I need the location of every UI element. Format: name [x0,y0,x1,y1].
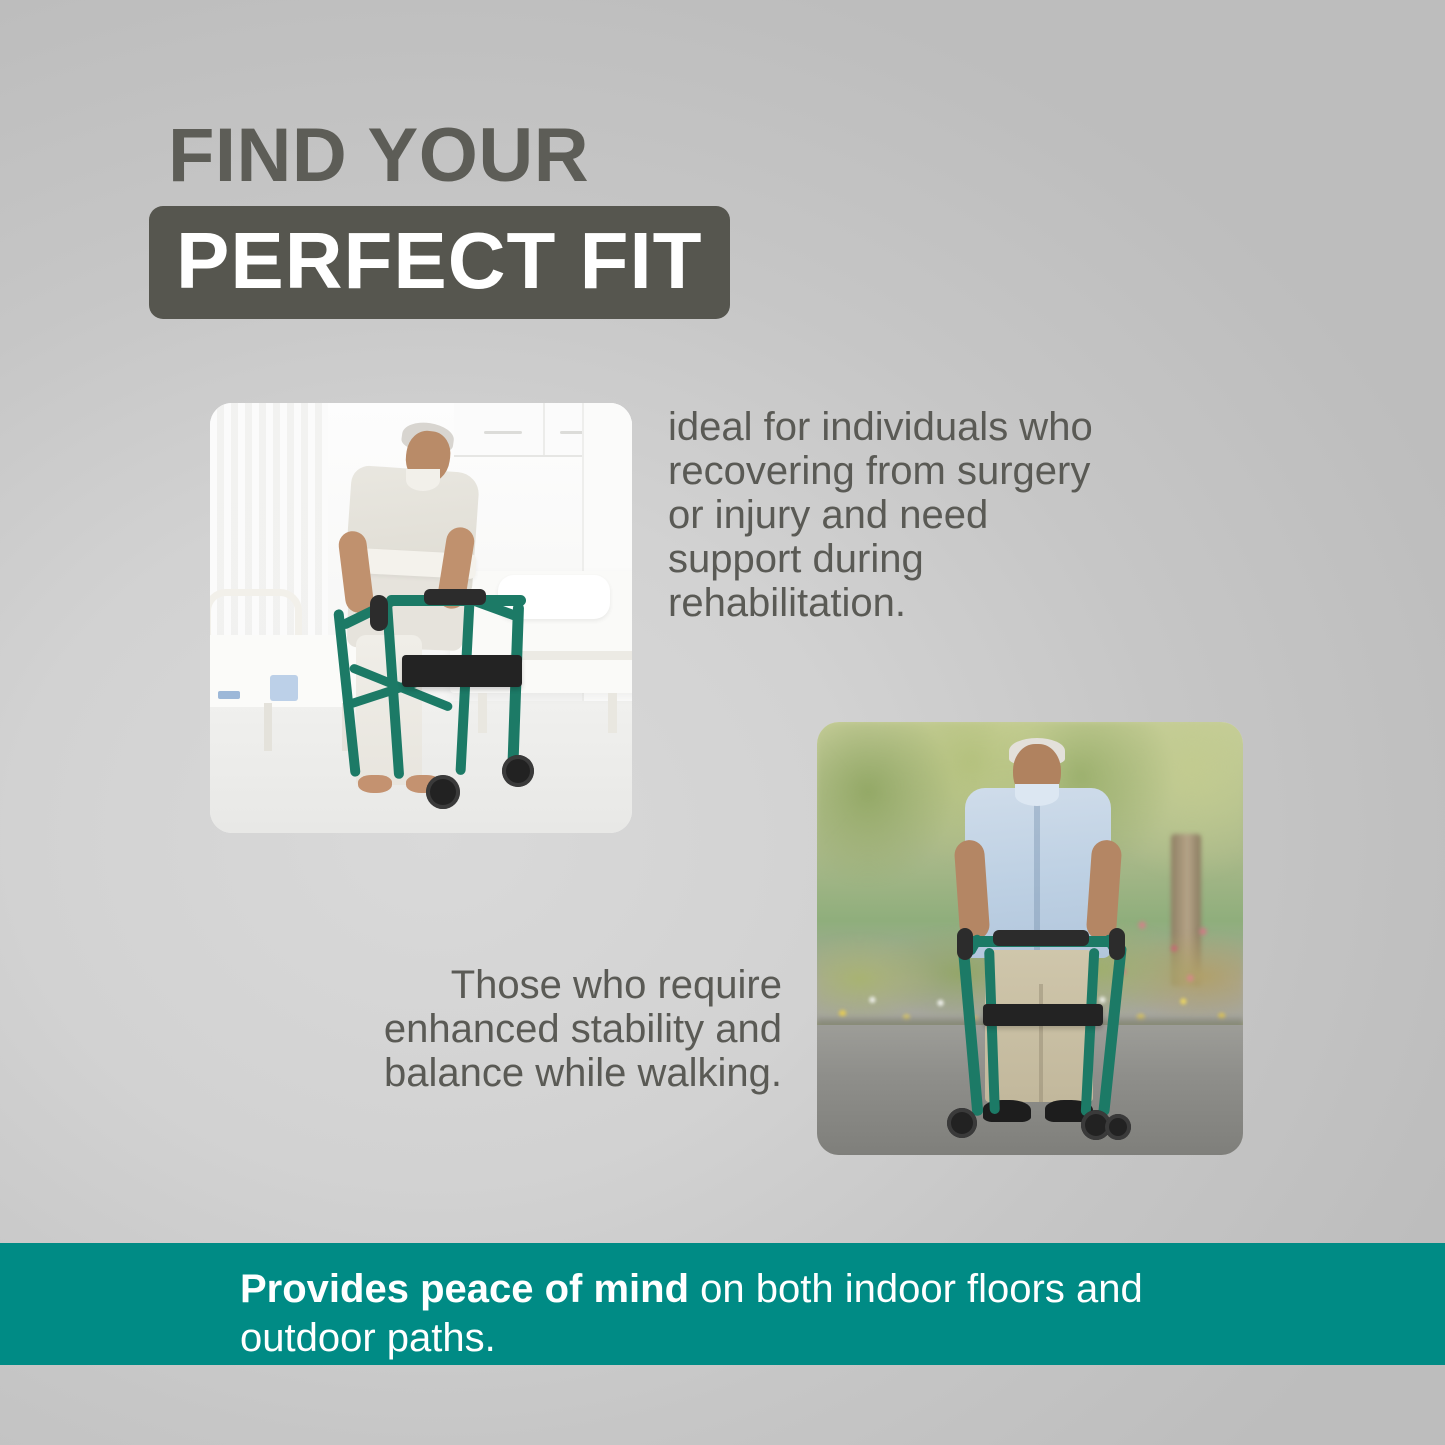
outdoor-walker-seat [983,1004,1103,1026]
outdoor-walker-wheel-right-rear [1105,1114,1131,1140]
outdoor-walker-grip-left [957,928,973,960]
walker-user-shirt-placket [1034,794,1040,952]
feature-text-stability: Those who require enhanced stability and… [300,963,782,1095]
patient-foot [358,775,392,793]
feature-text-recovery: ideal for individuals who recovering fro… [668,405,1108,625]
outdoor-walker-handgrip-bar [993,930,1089,946]
bed-leg [608,693,617,733]
walker-seat-platform [402,655,522,687]
walker-wheel-front [426,775,460,809]
headline-line-one: FIND YOUR [168,118,868,194]
poster-root: FIND YOUR PERFECT FIT [0,0,1445,1445]
patient-collar [406,469,440,491]
headline-badge: PERFECT FIT [149,206,730,319]
photo-card-outdoor [817,722,1243,1155]
footer-text: Provides peace of mind on both indoor fl… [240,1265,1280,1363]
indoor-hospital-scene [210,403,632,833]
bed-leg [478,693,487,733]
outdoor-walker-grip-right [1109,928,1125,960]
outdoor-walker-wheel-left [947,1108,977,1138]
outdoor-park-scene [817,722,1243,1155]
headline-block: FIND YOUR PERFECT FIT [168,118,868,319]
footer-banner: Provides peace of mind on both indoor fl… [0,1243,1445,1365]
bed-rail [510,651,632,660]
footer-lead-text: Provides peace of mind [240,1267,689,1311]
cabinet-handle-left [484,431,522,434]
bed-leg [264,703,272,751]
headline-line-two: PERFECT FIT [176,223,703,300]
blue-equipment-box [270,675,298,701]
walker-handgrip-right [424,589,486,605]
blue-equipment-strip [218,691,240,699]
walker-user-trousers [985,950,1093,1102]
photo-card-indoor [210,403,632,833]
walker-handgrip-left [370,595,388,631]
walker-user-collar [1015,784,1059,806]
walker-wheel-rear [502,755,534,787]
